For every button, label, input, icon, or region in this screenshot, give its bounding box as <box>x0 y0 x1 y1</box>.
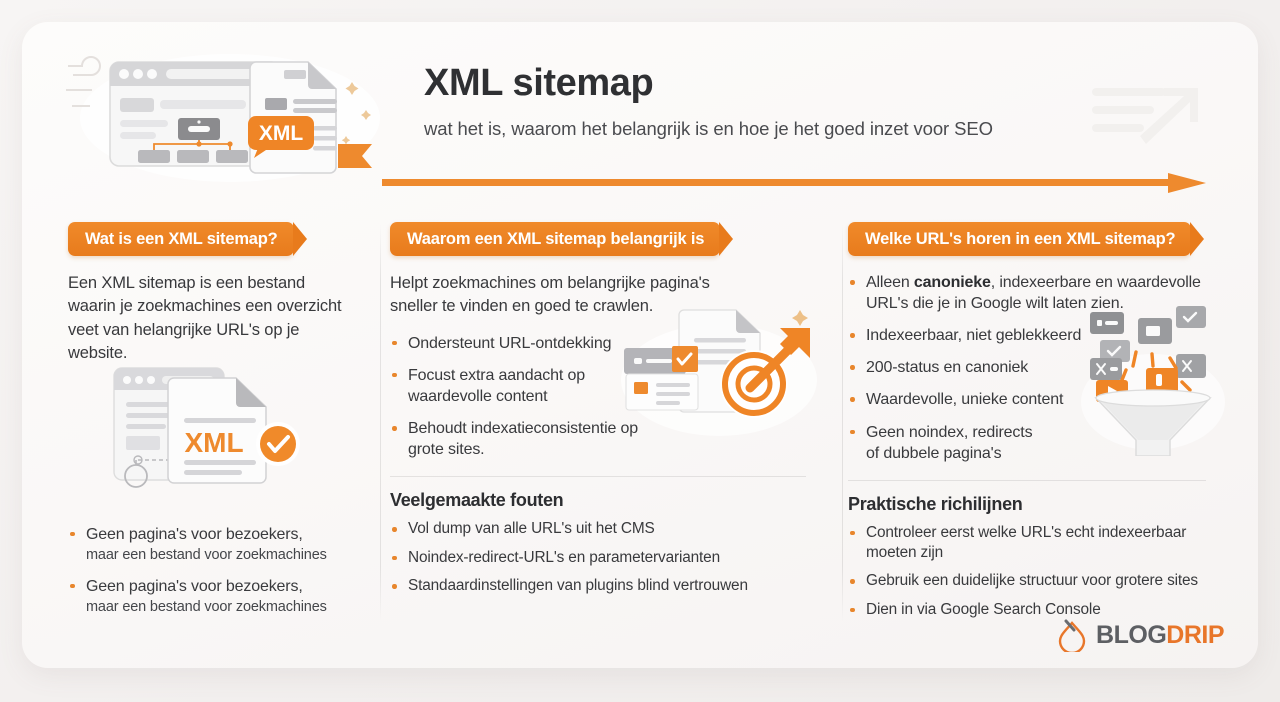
list-item: Geen pagina's voor bezoekers, maar een b… <box>68 576 354 617</box>
list-item: Behoudt indexatieconsistentie op grote s… <box>390 418 660 460</box>
list-item: Gebruik een duidelijke structuur voor gr… <box>848 571 1212 591</box>
list-item: Focust extra aandacht op waardevolle con… <box>390 365 660 407</box>
arrow-right-icon <box>382 172 1212 194</box>
list-item: Waardevolle, unieke content <box>848 389 1212 410</box>
svg-text:XML: XML <box>184 427 243 458</box>
hero-section: XML XML sitemap wat het is, waarom het b… <box>22 22 1258 198</box>
bullet-main: Geen pagina's voor bezoekers, <box>86 578 303 595</box>
list-item: Indexeerbaar, niet geblekkeerd <box>848 325 1212 346</box>
bullet-main: Focust extra aandacht op waardevolle con… <box>408 367 585 405</box>
bullet-main: Controleer eerst welke URL's echt indexe… <box>866 524 1186 561</box>
bullet-main: 200-status en canoniek <box>866 359 1028 376</box>
infographic-card: XML XML sitemap wat het is, waarom het b… <box>22 22 1258 668</box>
column-1-ribbon-header: Wat is een XML sitemap? <box>68 222 294 256</box>
subsection-title: Veelgemaakte fouten <box>390 490 812 511</box>
column-wat-is-een-xml-sitemap: Wat is een XML sitemap? Een XML sitemap … <box>50 208 372 640</box>
column-2-bullet-list: Ondersteunt URL-ontdekking Focust extra … <box>390 333 660 461</box>
logo-text-drip: DRIP <box>1166 621 1224 649</box>
bullet-main: Standaardinstellingen van plugins blind … <box>408 577 748 594</box>
bullet-main: Geen pagina's voor bezoekers, <box>86 526 303 543</box>
bullet-main: Ondersteunt URL-ontdekking <box>408 335 611 352</box>
column-1-intro: Een XML sitemap is een bestand waarin je… <box>68 272 354 366</box>
list-item: Geen pagina's voor bezoekers, maar een b… <box>68 524 354 565</box>
logo-text-blog: BLOG <box>1096 621 1166 649</box>
xml-document-check-icon: XML <box>96 360 326 490</box>
bullet-main: Geen noindex, redirects of dubbele pagin… <box>866 424 1032 462</box>
columns-container: Wat is een XML sitemap? Een XML sitemap … <box>50 208 1230 640</box>
bullet-sub: maar een bestand voor zoekmachines <box>86 546 354 565</box>
bullet-main: Noindex-redirect-URL's en parametervaria… <box>408 549 720 566</box>
brand-logo: BLOGDRIP <box>1057 618 1224 652</box>
logo-wordmark: BLOGDRIP <box>1096 623 1224 648</box>
bullet-pre: Alleen <box>866 274 914 291</box>
bullet-main: Behoudt indexatieconsistentie op grote s… <box>408 420 638 458</box>
column-waarom-belangrijk: Waarom een XML sitemap belangrijk is Hel… <box>372 208 830 640</box>
bullet-main: Gebruik een duidelijke structuur voor gr… <box>866 572 1198 589</box>
column-3-subsection-list: Controleer eerst welke URL's echt indexe… <box>848 523 1212 620</box>
hero-browser-xml-illustration: XML <box>60 44 400 184</box>
decorative-arrow-icon <box>1092 74 1212 164</box>
list-item: Vol dump van alle URL's uit het CMS <box>390 519 812 539</box>
column-2-subsection-list: Vol dump van alle URL's uit het CMS Noin… <box>390 519 812 596</box>
bullet-bold: canonieke <box>914 274 991 291</box>
bullet-main: Vol dump van alle URL's uit het CMS <box>408 520 655 537</box>
list-item: Controleer eerst welke URL's echt indexe… <box>848 523 1212 564</box>
list-item: Ondersteunt URL-ontdekking <box>390 333 660 354</box>
list-item: Geen noindex, redirects of dubbele pagin… <box>848 422 1048 464</box>
bullet-sub: maar een bestand voor zoekmachines <box>86 598 354 617</box>
svg-text:XML: XML <box>259 122 304 145</box>
bullet-main: Waardevolle, unieke content <box>866 391 1063 408</box>
list-item: Standaardinstellingen van plugins blind … <box>390 576 812 596</box>
column-3-ribbon-header: Welke URL's horen in een XML sitemap? <box>848 222 1191 256</box>
column-2-subsection: Veelgemaakte fouten Vol dump van alle UR… <box>390 476 812 596</box>
list-item: Alleen canonieke, indexeerbare en waarde… <box>848 272 1212 314</box>
column-2-intro: Helpt zoekmachines om belangrijke pagina… <box>390 272 720 319</box>
column-3-bullet-list: Alleen canonieke, indexeerbare en waarde… <box>848 272 1212 464</box>
list-item: Noindex-redirect-URL's en parametervaria… <box>390 548 812 568</box>
bullet-main: Dien in via Google Search Console <box>866 601 1101 618</box>
column-2-ribbon-header: Waarom een XML sitemap belangrijk is <box>390 222 720 256</box>
infographic-page: XML XML sitemap wat het is, waarom het b… <box>0 0 1280 702</box>
subsection-title: Praktische richilijnen <box>848 494 1212 515</box>
column-1-bullet-list: Geen pagina's voor bezoekers, maar een b… <box>68 524 354 617</box>
column-welke-urls: Welke URL's horen in een XML sitemap? <box>830 208 1230 640</box>
bullet-main: Indexeerbaar, niet geblekkeerd <box>866 327 1081 344</box>
droplet-icon <box>1057 618 1087 652</box>
column-3-subsection: Praktische richilijnen Controleer eerst … <box>848 480 1212 620</box>
list-item: 200-status en canoniek <box>848 357 1212 378</box>
